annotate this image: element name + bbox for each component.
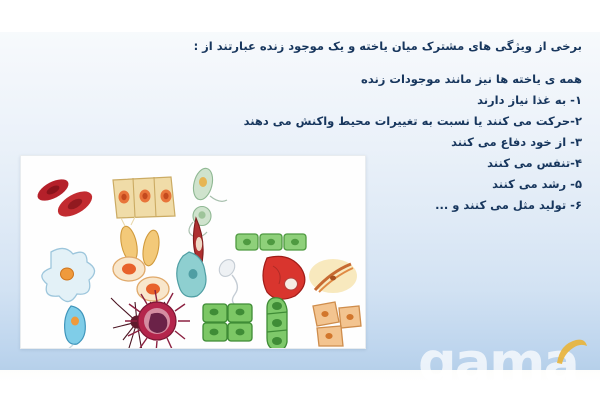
slide-line-5: ۵- رشد می کنند <box>216 176 582 192</box>
slide-line-2: ۲-حرکت می کنند یا نسبت به تغییرات محیط و… <box>216 113 582 129</box>
slide-line-0: همه ی یاخته ها نیز مانند موجودات زنده <box>216 71 582 87</box>
cell-skeletal-muscle <box>309 259 357 293</box>
slide-line-3: ۳- از خود دفاع می کنند <box>216 134 582 150</box>
cell-green-algae <box>267 298 287 348</box>
background-bottom-band <box>0 370 600 400</box>
slide-line-6: ۶- تولید مثل می کنند و ... <box>216 197 582 213</box>
cell-plant-chain <box>236 234 306 250</box>
cell-epithelial-sheet <box>113 177 175 218</box>
slide-title: برخی از ویژگی های مشترک میان یاخته و یک … <box>216 38 582 55</box>
background-top-band <box>0 0 600 32</box>
slide-line-1: ۱- به غذا نیاز دارند <box>216 92 582 108</box>
slide-canvas: تصویر انواع یاخته ها برخی از ویژگی های م… <box>0 0 600 400</box>
slide-line-4: ۴-تنفس می کنند <box>216 155 582 171</box>
slide-text-block: برخی از ویژگی های مشترک میان یاخته و یک … <box>216 38 582 218</box>
